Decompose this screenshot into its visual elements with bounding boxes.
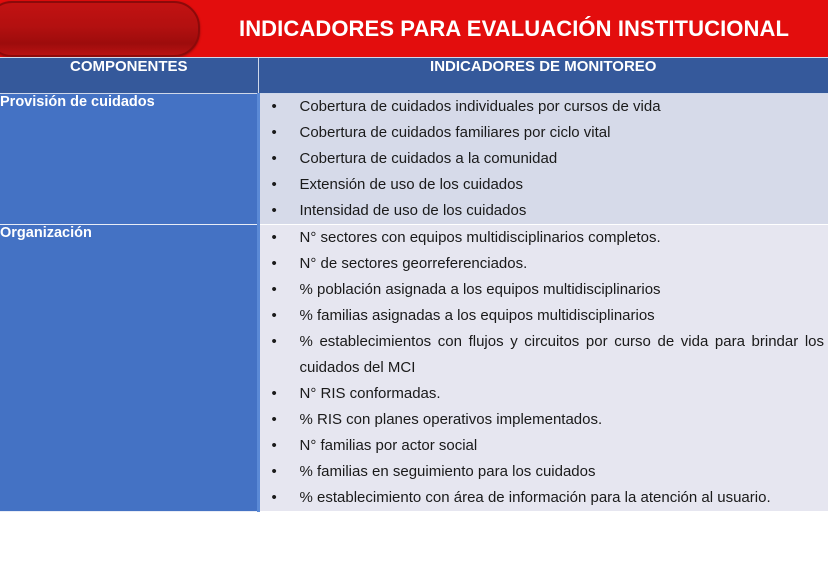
list-item: Extensión de uso de los cuidados: [260, 172, 828, 198]
component-label-provision-de-cuidados: Provisión de cuidados: [0, 94, 258, 225]
list-item: N° de sectores georreferenciados.: [260, 251, 828, 277]
title-banner: INDICADORES PARA EVALUACIÓN INSTITUCIONA…: [0, 0, 828, 57]
list-item: N° sectores con equipos multidisciplinar…: [260, 225, 828, 251]
table-header-row: COMPONENTES INDICADORES DE MONITOREO: [0, 58, 828, 94]
table-row: Organización N° sectores con equipos mul…: [0, 225, 828, 512]
list-item: % establecimientos con flujos y circuito…: [260, 329, 828, 381]
list-item: Intensidad de uso de los cuidados: [260, 198, 828, 224]
component-label-organizacion: Organización: [0, 225, 258, 512]
indicator-list: Cobertura de cuidados individuales por c…: [260, 94, 828, 224]
indicators-cell: N° sectores con equipos multidisciplinar…: [258, 225, 828, 512]
list-item: N° familias por actor social: [260, 433, 828, 459]
list-item: % familias en seguimiento para los cuida…: [260, 459, 828, 485]
table-row: Provisión de cuidados Cobertura de cuida…: [0, 94, 828, 225]
indicator-list: N° sectores con equipos multidisciplinar…: [260, 225, 828, 511]
slide-root: INDICADORES PARA EVALUACIÓN INSTITUCIONA…: [0, 0, 828, 573]
page-title: INDICADORES PARA EVALUACIÓN INSTITUCIONA…: [200, 0, 828, 57]
list-item: % establecimiento con área de informació…: [260, 485, 828, 511]
table-body: Provisión de cuidados Cobertura de cuida…: [0, 94, 828, 512]
banner-tab-shape: [0, 1, 200, 57]
list-item: Cobertura de cuidados a la comunidad: [260, 146, 828, 172]
header-cell-componentes: COMPONENTES: [0, 58, 258, 94]
list-item: % RIS con planes operativos implementado…: [260, 407, 828, 433]
list-item: Cobertura de cuidados familiares por cic…: [260, 120, 828, 146]
table-head: COMPONENTES INDICADORES DE MONITOREO: [0, 58, 828, 94]
list-item: Cobertura de cuidados individuales por c…: [260, 94, 828, 120]
list-item: % familias asignadas a los equipos multi…: [260, 303, 828, 329]
list-item: N° RIS conformadas.: [260, 381, 828, 407]
indicators-table: COMPONENTES INDICADORES DE MONITOREO Pro…: [0, 57, 828, 512]
list-item: % población asignada a los equipos multi…: [260, 277, 828, 303]
header-cell-indicadores: INDICADORES DE MONITOREO: [258, 58, 828, 94]
indicators-cell: Cobertura de cuidados individuales por c…: [258, 94, 828, 225]
